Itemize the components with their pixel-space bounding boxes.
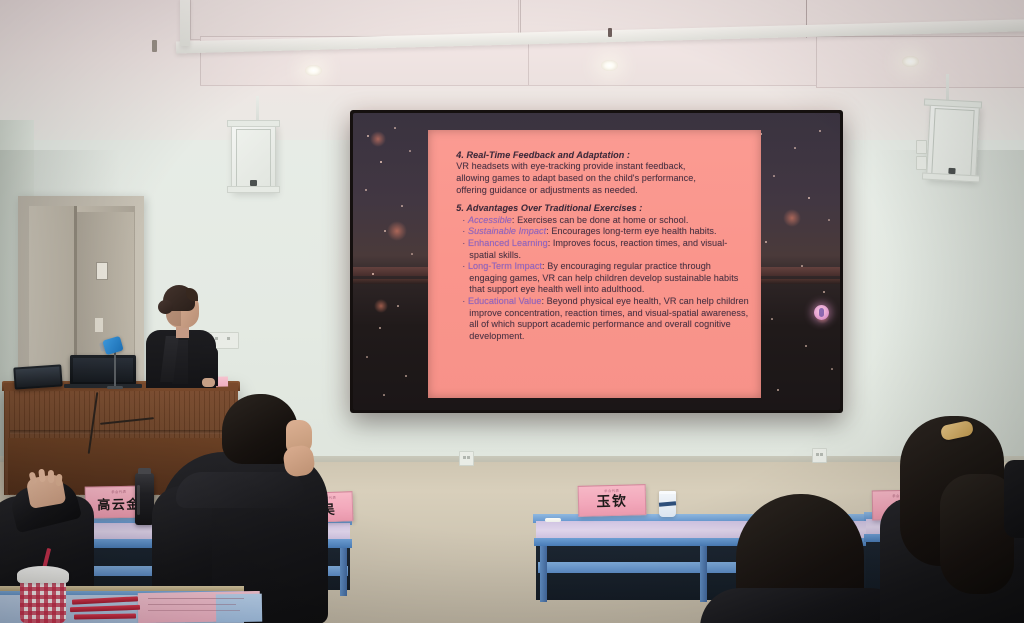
slide-heading-5: 5. Advantages Over Traditional Exercises… — [456, 203, 751, 215]
sprinkler-head — [608, 28, 612, 37]
laptop-base — [64, 384, 142, 388]
speaker-bracket — [227, 120, 280, 127]
door-strike-plate — [95, 318, 103, 332]
bullet-term-sustainable-impact: Sustainable Impact — [468, 226, 546, 236]
slide-bullet-long-term-impact: Long-Term Impact: By encouraging regular… — [469, 261, 751, 296]
bullet-term-educational-value: Educational Value — [468, 296, 541, 306]
control-tablet[interactable] — [13, 364, 62, 389]
paper-cup-mid — [659, 491, 676, 517]
display-bezel: 4. Real-Time Feedback and Adaptation : V… — [353, 113, 840, 410]
bullet-term-enhanced-learning: Enhanced Learning — [468, 238, 548, 248]
classroom-scene: 4. Real-Time Feedback and Adaptation : V… — [0, 0, 1024, 623]
ceiling-downlight — [601, 60, 618, 71]
left-wall-speaker — [231, 124, 276, 192]
bullet-term-accessible: Accessible — [468, 215, 512, 225]
presenter-hand — [202, 378, 215, 387]
ceiling-downlight — [902, 56, 919, 67]
slide-bullet-accessible: Accessible: Exercises can be done at hom… — [469, 215, 751, 227]
bullet-rest-accessible: : Exercises can be done at home or schoo… — [512, 215, 689, 225]
wall-outlet-right[interactable] — [812, 448, 827, 463]
right-wall-speaker — [926, 103, 980, 182]
bullet-term-long-term-impact: Long-Term Impact — [468, 261, 542, 271]
ceiling-downlight — [305, 65, 322, 76]
slide-content-panel: 4. Real-Time Feedback and Adaptation : V… — [428, 130, 761, 399]
name-card-3-name: 玉钦 — [596, 491, 627, 511]
desk-paper-scrap — [545, 518, 561, 522]
door-lock-plate — [96, 262, 108, 280]
slide-heading-4: 4. Real-Time Feedback and Adaptation : — [456, 150, 751, 162]
speaker-mount-pole — [256, 96, 259, 122]
slide-bullet-educational-value: Educational Value: Beyond physical eye h… — [469, 296, 751, 342]
speaker-bracket — [227, 186, 280, 193]
slide-body-4-line-1: VR headsets with eye-tracking provide in… — [456, 161, 751, 173]
attendee-center-hood — [176, 472, 304, 508]
wall-outlet-center[interactable] — [459, 451, 474, 466]
laptop[interactable] — [70, 355, 136, 385]
slide-body-4-line-3: offering guidance or adjustments as need… — [456, 185, 751, 197]
lectern-seam — [10, 430, 232, 434]
microphone-stand — [114, 350, 116, 388]
presenter-hair-bun — [158, 300, 173, 314]
slide-indicator-dot — [814, 305, 829, 320]
wall-switch-right[interactable] — [916, 140, 927, 154]
slide-canvas: 4. Real-Time Feedback and Adaptation : V… — [353, 113, 840, 410]
name-card-3-header: 参会代表 — [579, 487, 645, 494]
presentation-display[interactable]: 4. Real-Time Feedback and Adaptation : V… — [350, 110, 843, 413]
ceiling-hook — [152, 40, 157, 52]
slide-bullet-sustainable-impact: Sustainable Impact: Encourages long-term… — [469, 226, 751, 238]
wall-switch-right-2[interactable] — [916, 156, 927, 170]
slide-bullet-enhanced-learning: Enhanced Learning: Improves focus, react… — [469, 238, 751, 261]
coffee-cup-lid — [17, 566, 69, 583]
name-card-3: 参会代表 玉钦 — [578, 484, 647, 517]
coffee-cup-body — [20, 578, 66, 623]
bullet-rest-sustainable-impact: : Encourages long-term eye health habits… — [546, 226, 716, 236]
slide-body-4-line-2: allowing games to adapt based on the chi… — [456, 173, 751, 185]
microphone-base — [107, 386, 123, 389]
slide-text-body: 4. Real-Time Feedback and Adaptation : V… — [456, 150, 751, 343]
